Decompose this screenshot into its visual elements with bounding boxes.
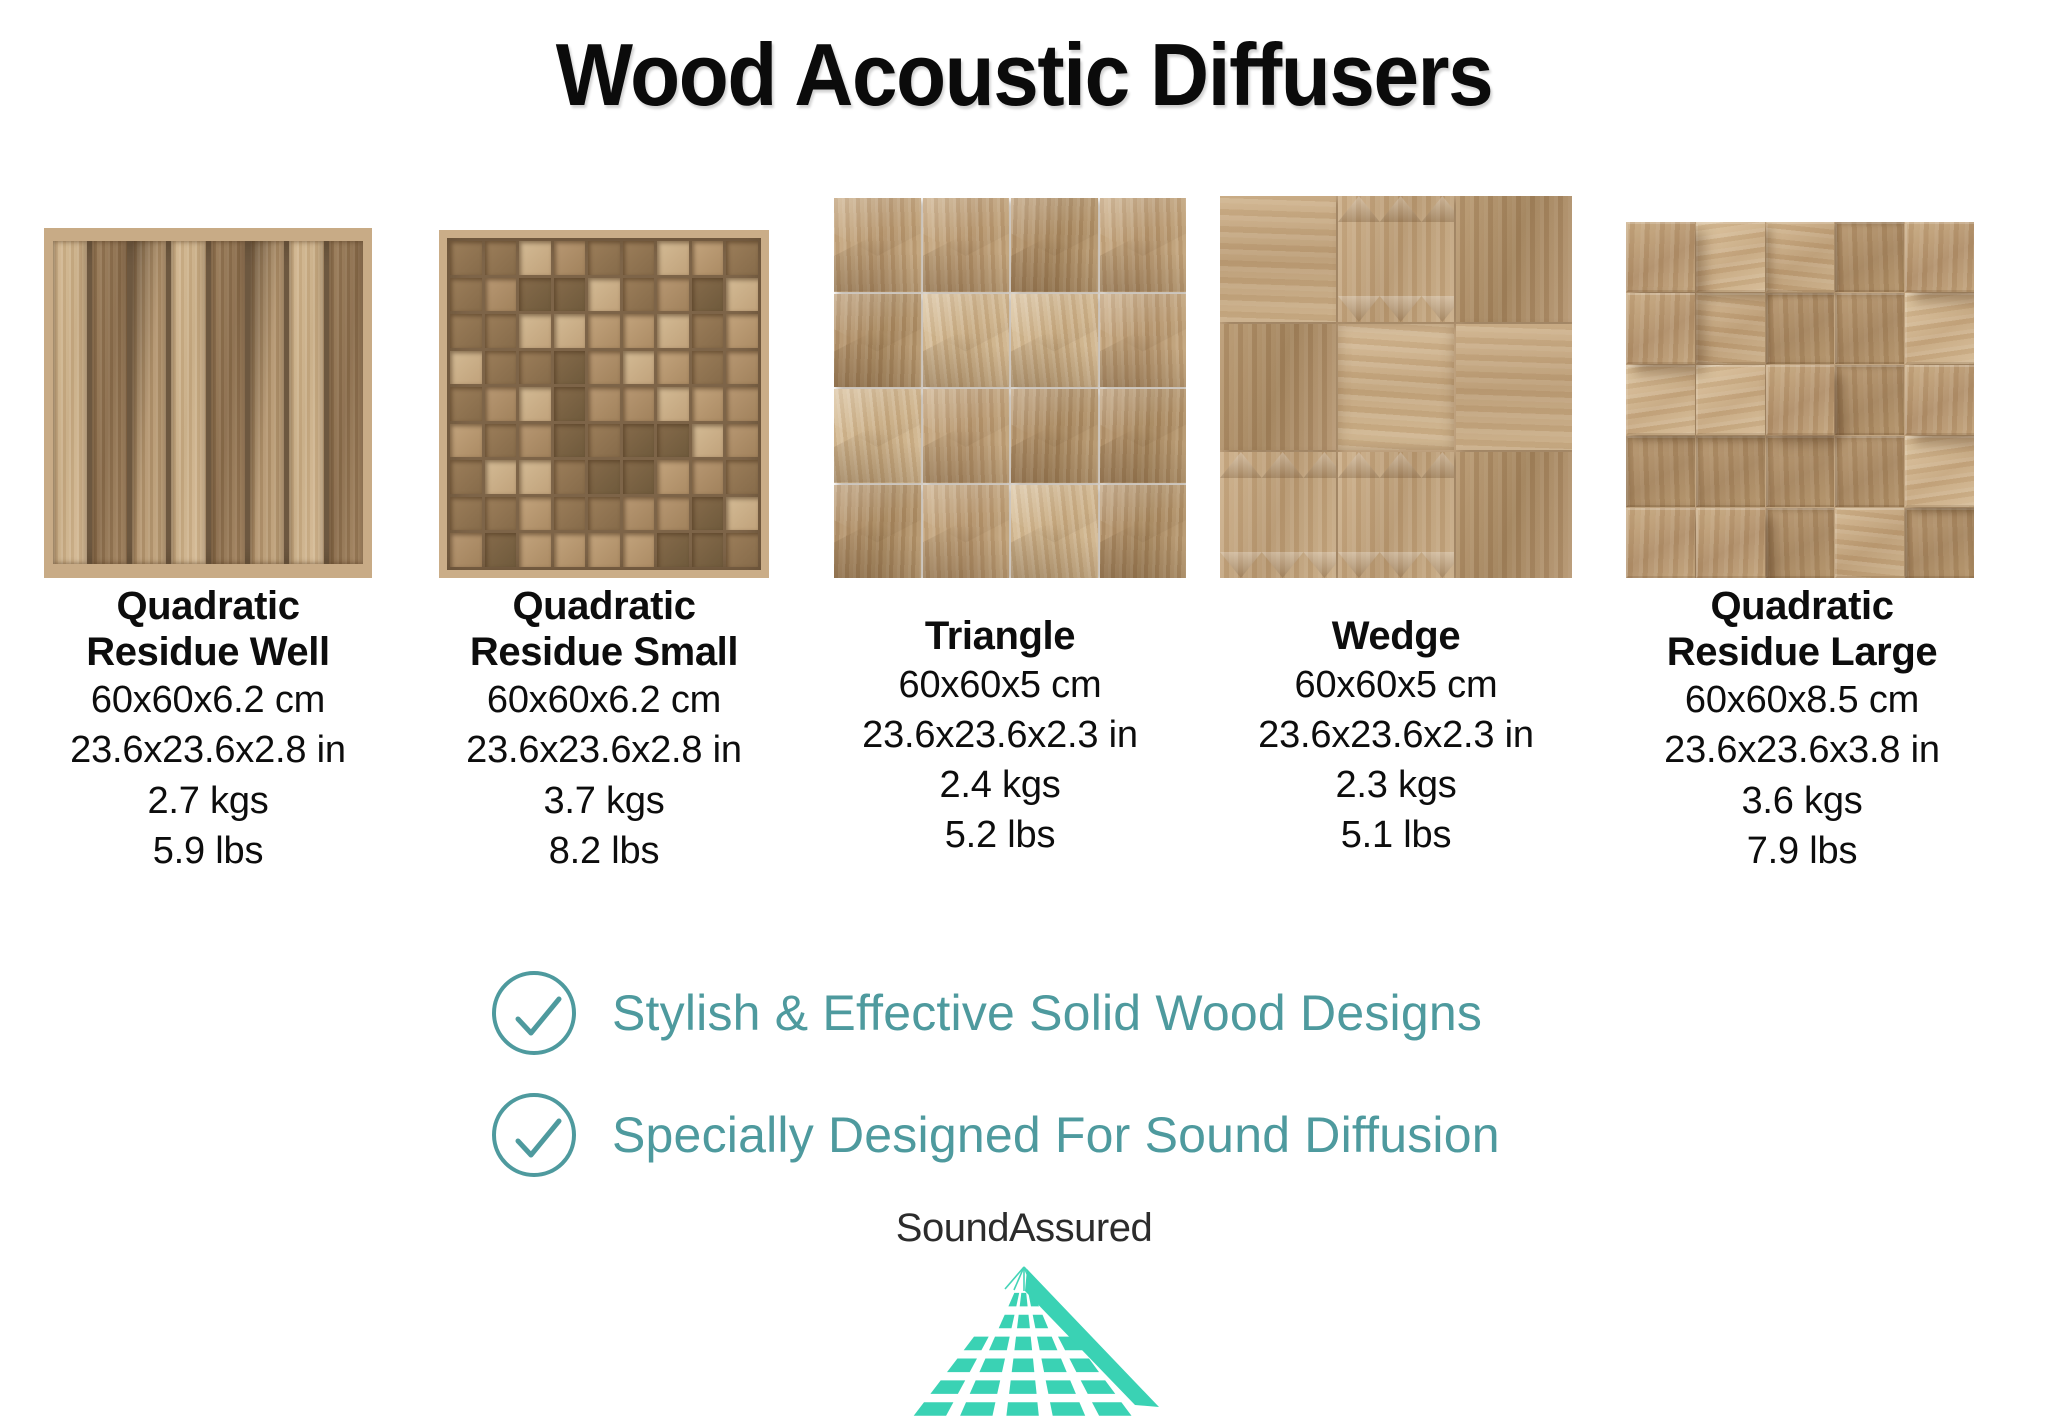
diffuser-well-cell [692, 351, 724, 385]
wedge-panel-photo [1220, 196, 1572, 578]
diffuser-well-cell [726, 533, 758, 567]
diffuser-well-cell [726, 460, 758, 494]
diffuser-well-cell [657, 424, 689, 458]
diffuser-well-cell [657, 314, 689, 348]
diffuser-cube-block [1905, 365, 1974, 435]
diffuser-well-cell [692, 241, 724, 275]
diffuser-triangle-block [1100, 485, 1187, 579]
diffuser-well-cell [519, 497, 551, 531]
diffuser-well-cell [726, 241, 758, 275]
diffuser-well-cell [726, 497, 758, 531]
diffuser-well-cell [588, 387, 620, 421]
diffuser-well-cell [692, 497, 724, 531]
diffuser-well-cell [588, 278, 620, 312]
product-image-row [0, 178, 2048, 578]
pyramid-tile [1006, 1402, 1038, 1416]
diffuser-well-cell [554, 497, 586, 531]
diffuser-well-cell [657, 351, 689, 385]
diffuser-well-cell [450, 460, 482, 494]
diffuser-well-cell [692, 424, 724, 458]
diffuser-cube-block [1696, 436, 1765, 506]
quadratic-residue-well-panel-photo [44, 228, 372, 578]
diffuser-well-cell [692, 533, 724, 567]
diffuser-cube-block [1905, 293, 1974, 363]
diffuser-triangle-block [1011, 294, 1098, 388]
diffuser-cube-block [1766, 293, 1835, 363]
diffuser-well-cell [519, 533, 551, 567]
diffuser-well-cell [519, 351, 551, 385]
product-caption-triangle: Triangle 60x60x5 cm 23.6x23.6x2.3 in 2.4… [810, 614, 1190, 860]
diffuser-well-cell [450, 387, 482, 421]
diffuser-cube-block [1835, 436, 1904, 506]
diffuser-cube-block [1905, 436, 1974, 506]
pyramid-tile [970, 1380, 1001, 1394]
diffuser-triangle-block [1011, 198, 1098, 292]
diffuser-well-cell [519, 460, 551, 494]
product-dimensions-cm: 60x60x6.2 cm [18, 675, 398, 725]
diffuser-well-cell [485, 241, 517, 275]
diffuser-well-cell [726, 387, 758, 421]
diffuser-well-cell [588, 460, 620, 494]
product-dimensions-in: 23.6x23.6x2.3 in [810, 710, 1190, 760]
diffuser-well-cell [554, 314, 586, 348]
product-image-triangle [830, 178, 1190, 578]
diffuser-triangle-block [923, 294, 1010, 388]
diffuser-triangle-block [1100, 198, 1187, 292]
diffuser-well-cell [519, 278, 551, 312]
product-name-line1: Quadratic [18, 584, 398, 630]
diffuser-well-cell [588, 497, 620, 531]
feature-item-sound-diffusion: Specially Designed For Sound Diffusion [0, 1074, 2048, 1196]
pyramid-tile [964, 1337, 989, 1351]
product-weight-lb: 5.1 lbs [1206, 810, 1586, 860]
diffuser-well-cell [623, 533, 655, 567]
product-dimensions-cm: 60x60x5 cm [810, 660, 1190, 710]
diffuser-cube-block [1626, 365, 1695, 435]
diffuser-well-cell [623, 351, 655, 385]
diffuser-triangle-block [834, 294, 921, 388]
product-name-line1: Quadratic [414, 584, 794, 630]
diffuser-well-cell [450, 278, 482, 312]
pyramid-tile [914, 1402, 954, 1416]
diffuser-well-cell [485, 497, 517, 531]
product-image-wedge [1216, 178, 1576, 578]
diffuser-well-cell [692, 278, 724, 312]
diffuser-triangle-block [1100, 389, 1187, 483]
diffuser-triangle-block [923, 198, 1010, 292]
pyramid-tile [1046, 1380, 1076, 1394]
diffuser-cube-block [1766, 365, 1835, 435]
infographic-page: Wood Acoustic Diffusers [0, 0, 2048, 1416]
diffuser-cube-block [1835, 365, 1904, 435]
pyramid-tile [1092, 1402, 1132, 1416]
diffuser-well-cell [554, 241, 586, 275]
diffuser-well-cell [554, 351, 586, 385]
product-caption-quadratic-residue-well: Quadratic Residue Well 60x60x6.2 cm 23.6… [18, 584, 398, 876]
diffuser-well-cell [485, 460, 517, 494]
diffuser-cube-block [1905, 508, 1974, 578]
pyramid-tile [999, 1315, 1015, 1329]
diffuser-cube-block [1905, 222, 1974, 292]
product-dimensions-cm: 60x60x5 cm [1206, 660, 1586, 710]
diffuser-cube-block [1766, 436, 1835, 506]
diffuser-cube-block [1626, 222, 1695, 292]
pyramid-tile [1008, 1293, 1019, 1307]
diffuser-well-cell [657, 497, 689, 531]
diffuser-well-cell [519, 387, 551, 421]
diffuser-well-cell [657, 460, 689, 494]
diffuser-triangle-block [1100, 294, 1187, 388]
pyramid-tile [1020, 1293, 1028, 1307]
diffuser-well-cell [588, 314, 620, 348]
product-dimensions-in: 23.6x23.6x2.8 in [18, 725, 398, 775]
diffuser-triangle-block [923, 389, 1010, 483]
diffuser-well-cell [726, 424, 758, 458]
product-name-line1: Wedge [1206, 614, 1586, 660]
feature-label: Stylish & Effective Solid Wood Designs [612, 984, 1482, 1042]
diffuser-well-cell [519, 241, 551, 275]
diffuser-well-cell [485, 387, 517, 421]
diffuser-well-cell [519, 314, 551, 348]
brand-logo: SoundAssured [859, 1206, 1189, 1416]
diffuser-well-cell [450, 497, 482, 531]
feature-list: Stylish & Effective Solid Wood Designs S… [0, 952, 2048, 1196]
product-weight-lb: 8.2 lbs [414, 826, 794, 876]
diffuser-well-cell [623, 241, 655, 275]
pyramid-tile [930, 1380, 965, 1394]
product-name-line1: Quadratic [1612, 584, 1992, 630]
diffuser-cube-block [1835, 508, 1904, 578]
diffuser-cube-block [1835, 222, 1904, 292]
quadratic-residue-small-panel-photo [439, 230, 769, 578]
product-name-line2: Residue Well [18, 630, 398, 676]
pyramid-tile [1081, 1380, 1116, 1394]
diffuser-well-cell [588, 533, 620, 567]
product-dimensions-in: 23.6x23.6x2.3 in [1206, 710, 1586, 760]
diffuser-well-cell [623, 314, 655, 348]
product-weight-lb: 7.9 lbs [1612, 826, 1992, 876]
triangle-panel-photo [834, 198, 1186, 578]
pyramid-tile [1050, 1402, 1085, 1416]
product-name-line1: Triangle [810, 614, 1190, 660]
product-dimensions-in: 23.6x23.6x2.8 in [414, 725, 794, 775]
diffuser-well-cell [623, 497, 655, 531]
product-weight-kg: 3.7 kgs [414, 776, 794, 826]
product-caption-quadratic-residue-large: Quadratic Residue Large 60x60x8.5 cm 23.… [1612, 584, 1992, 876]
product-weight-kg: 2.3 kgs [1206, 760, 1586, 810]
diffuser-well-cell [554, 424, 586, 458]
diffuser-well-cell [485, 424, 517, 458]
quadratic-residue-large-panel-photo [1626, 222, 1974, 578]
diffuser-triangle-block [834, 389, 921, 483]
page-title: Wood Acoustic Diffusers [72, 24, 1977, 126]
check-circle-icon [492, 1093, 576, 1177]
diffuser-well-cell [450, 533, 482, 567]
diffuser-well-cell [519, 424, 551, 458]
diffuser-well-cell [450, 424, 482, 458]
product-dimensions-in: 23.6x23.6x3.8 in [1612, 725, 1992, 775]
feature-label: Specially Designed For Sound Diffusion [612, 1106, 1500, 1164]
diffuser-well-cell [485, 533, 517, 567]
pyramid-tile [947, 1359, 977, 1373]
product-caption-wedge: Wedge 60x60x5 cm 23.6x23.6x2.3 in 2.3 kg… [1206, 614, 1586, 860]
product-caption-quadratic-residue-small: Quadratic Residue Small 60x60x6.2 cm 23.… [414, 584, 794, 876]
diffuser-well-cell [657, 278, 689, 312]
diffuser-well-cell [623, 460, 655, 494]
diffuser-well-cell [657, 241, 689, 275]
diffuser-well-cell [588, 351, 620, 385]
diffuser-well-cell [450, 314, 482, 348]
diffuser-well-cell [692, 460, 724, 494]
diffuser-cube-block [1696, 293, 1765, 363]
diffuser-well-cell [623, 278, 655, 312]
product-image-quadratic-residue-well [28, 178, 388, 578]
product-dimensions-cm: 60x60x8.5 cm [1612, 675, 1992, 725]
product-image-quadratic-residue-large [1620, 178, 1980, 578]
diffuser-triangle-block [1011, 389, 1098, 483]
pyramid-tile [989, 1337, 1010, 1351]
check-circle-icon [492, 971, 576, 1055]
product-name-line2: Residue Large [1612, 630, 1992, 676]
diffuser-well-cell [657, 387, 689, 421]
product-weight-lb: 5.2 lbs [810, 810, 1190, 860]
pyramid-tile [1012, 1359, 1035, 1373]
diffuser-cube-block [1766, 508, 1835, 578]
pyramid-tile [1017, 1315, 1030, 1329]
diffuser-well-cell [726, 351, 758, 385]
diffuser-well-cell [588, 424, 620, 458]
pyramid-tile [1009, 1380, 1037, 1394]
diffuser-well-cell [485, 314, 517, 348]
diffuser-cube-block [1626, 293, 1695, 363]
feature-item-stylish-designs: Stylish & Effective Solid Wood Designs [0, 952, 2048, 1074]
product-image-quadratic-residue-small [424, 178, 784, 578]
diffuser-triangle-block [834, 485, 921, 579]
diffuser-well-cell [623, 387, 655, 421]
product-name-line2: Residue Small [414, 630, 794, 676]
diffuser-cube-block [1696, 508, 1765, 578]
pyramid-tile [1033, 1315, 1049, 1329]
diffuser-cube-block [1696, 365, 1765, 435]
diffuser-well-cell [450, 241, 482, 275]
diffuser-triangle-block [834, 198, 921, 292]
soundassured-pyramid-icon [859, 1255, 1189, 1416]
brand-wordmark: SoundAssured [859, 1206, 1189, 1251]
diffuser-well-cell [726, 278, 758, 312]
diffuser-well-cell [692, 387, 724, 421]
pyramid-tile [1041, 1359, 1066, 1373]
diffuser-well-cell [554, 533, 586, 567]
product-weight-kg: 3.6 kgs [1612, 776, 1992, 826]
diffuser-well-cell [623, 424, 655, 458]
diffuser-triangle-block [923, 485, 1010, 579]
diffuser-cube-block [1766, 222, 1835, 292]
product-weight-kg: 2.7 kgs [18, 776, 398, 826]
pyramid-tile [979, 1359, 1005, 1373]
product-weight-lb: 5.9 lbs [18, 826, 398, 876]
product-weight-kg: 2.4 kgs [810, 760, 1190, 810]
diffuser-well-cell [554, 387, 586, 421]
diffuser-well-cell [726, 314, 758, 348]
diffuser-well-cell [692, 314, 724, 348]
diffuser-cube-block [1626, 508, 1695, 578]
diffuser-well-cell [588, 241, 620, 275]
diffuser-well-cell [554, 278, 586, 312]
pyramid-tile [1014, 1337, 1032, 1351]
diffuser-well-cell [485, 351, 517, 385]
diffuser-cube-block [1835, 293, 1904, 363]
diffuser-well-cell [485, 278, 517, 312]
product-dimensions-cm: 60x60x6.2 cm [414, 675, 794, 725]
diffuser-cube-block [1626, 436, 1695, 506]
diffuser-triangle-block [1011, 485, 1098, 579]
pyramid-tile [960, 1402, 995, 1416]
diffuser-well-cell [657, 533, 689, 567]
diffuser-well-cell [450, 351, 482, 385]
diffuser-cube-block [1696, 222, 1765, 292]
diffuser-well-cell [554, 460, 586, 494]
pyramid-tile [1037, 1337, 1057, 1351]
